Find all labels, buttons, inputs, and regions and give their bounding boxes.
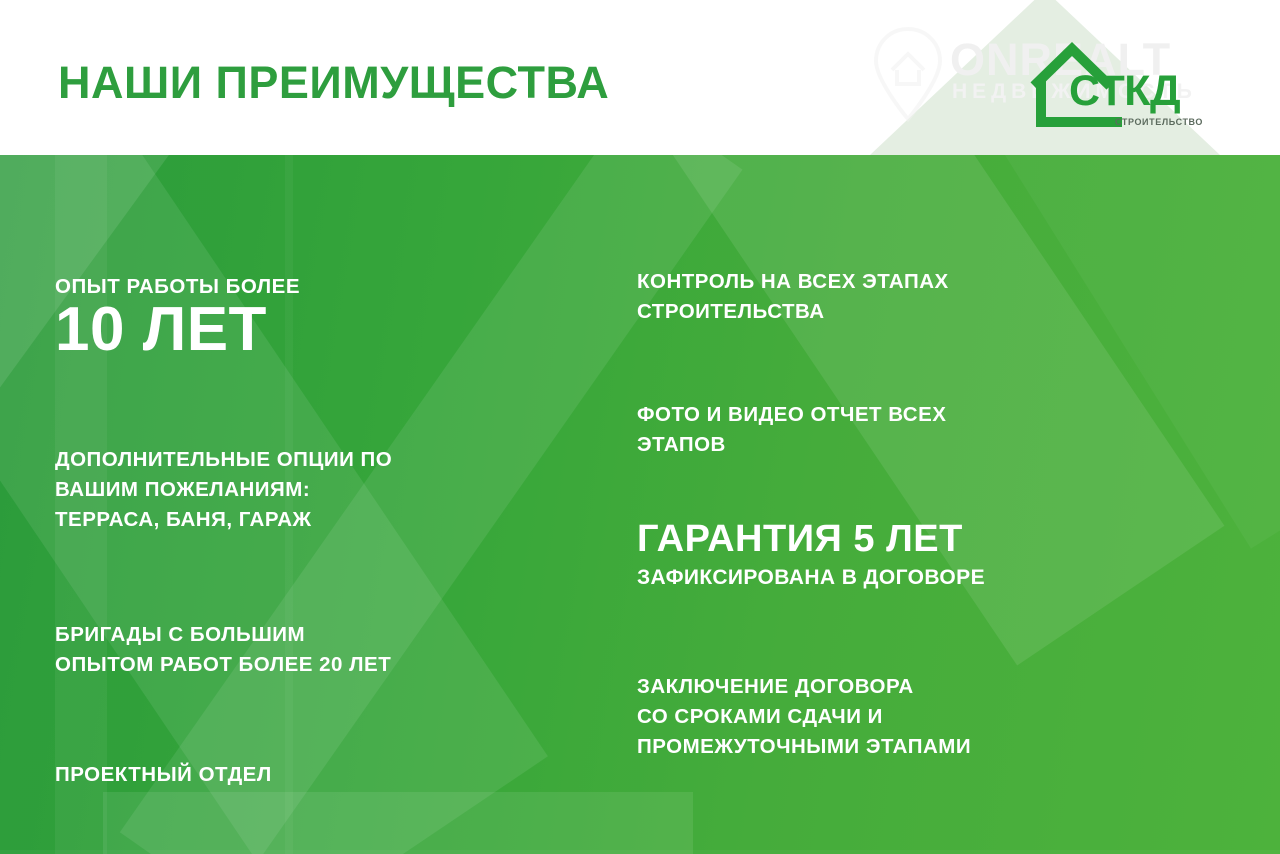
advantage-photo-video-report-text: ФОТО И ВИДЕО ОТЧЕТ ВСЕХ ЭТАПОВ [637, 400, 946, 460]
logo-subtitle: СТРОИТЕЛЬСТВО [1115, 117, 1203, 127]
advantage-warranty-sub-text: ЗАФИКСИРОВАНА В ДОГОВОРЕ [637, 563, 985, 593]
advantage-warranty-headline-text: ГАРАНТИЯ 5 ЛЕТ [637, 517, 963, 561]
advantage-contract-terms-text: ЗАКЛЮЧЕНИЕ ДОГОВОРА СО СРОКАМИ СДАЧИ И П… [637, 672, 971, 762]
advantages-slide: ONREALT НЕДВИЖИМОСТЬ НАШИ ПРЕИМУЩЕСТВА С… [0, 0, 1280, 854]
advantages-body: ОПЫТ РАБОТЫ БОЛЕЕ 10 ЛЕТ ДОПОЛНИТЕЛЬНЫЕ … [0, 155, 1280, 854]
advantage-experience-headline: 10 ЛЕТ [55, 297, 267, 363]
advantage-experienced-crews-text: БРИГАДЫ С БОЛЬШИМ ОПЫТОМ РАБОТ БОЛЕЕ 20 … [55, 620, 391, 680]
logo-wordmark: СТКД [1069, 67, 1180, 116]
page-title: НАШИ ПРЕИМУЩЕСТВА [58, 57, 609, 109]
diagonal-band-decoration-5 [880, 155, 1280, 549]
slide-header: ONREALT НЕДВИЖИМОСТЬ НАШИ ПРЕИМУЩЕСТВА С… [0, 0, 1280, 155]
advantage-experienced-crews: БРИГАДЫ С БОЛЬШИМ ОПЫТОМ РАБОТ БОЛЕЕ 20 … [55, 620, 391, 680]
bottom-edge-decoration [0, 850, 1280, 854]
advantage-experience-headline-text: 10 ЛЕТ [55, 297, 267, 363]
advantage-extra-options-text: ДОПОЛНИТЕЛЬНЫЕ ОПЦИИ ПО ВАШИМ ПОЖЕЛАНИЯМ… [55, 445, 392, 535]
stkd-logo[interactable]: СТКД СТРОИТЕЛЬСТВО [1026, 40, 1186, 140]
advantage-stage-control-text: КОНТРОЛЬ НА ВСЕХ ЭТАПАХ СТРОИТЕЛЬСТВА [637, 267, 949, 327]
advantage-stage-control: КОНТРОЛЬ НА ВСЕХ ЭТАПАХ СТРОИТЕЛЬСТВА [637, 267, 949, 327]
bottom-block-decoration [103, 792, 693, 854]
advantage-contract-terms: ЗАКЛЮЧЕНИЕ ДОГОВОРА СО СРОКАМИ СДАЧИ И П… [637, 672, 971, 762]
advantage-design-department: ПРОЕКТНЫЙ ОТДЕЛ [55, 760, 272, 790]
advantage-extra-options: ДОПОЛНИТЕЛЬНЫЕ ОПЦИИ ПО ВАШИМ ПОЖЕЛАНИЯМ… [55, 445, 392, 535]
advantage-photo-video-report: ФОТО И ВИДЕО ОТЧЕТ ВСЕХ ЭТАПОВ [637, 400, 946, 460]
advantage-warranty-sub: ЗАФИКСИРОВАНА В ДОГОВОРЕ [637, 563, 985, 593]
advantage-design-department-text: ПРОЕКТНЫЙ ОТДЕЛ [55, 760, 272, 790]
advantage-warranty-headline: ГАРАНТИЯ 5 ЛЕТ [637, 517, 963, 561]
